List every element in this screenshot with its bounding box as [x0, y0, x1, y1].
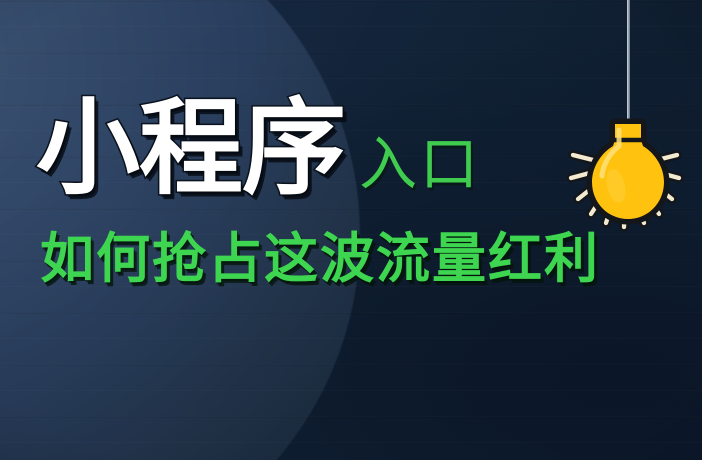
- hanging-lightbulb-icon: [556, 0, 702, 236]
- headline: 小程序 入口: [36, 96, 481, 200]
- title-main: 小程序: [36, 96, 345, 200]
- subtitle: 如何抢占这波流量红利: [40, 231, 600, 287]
- bulb-body: [592, 124, 664, 219]
- bulb-cord: [628, 0, 629, 122]
- title-accent: 入口: [359, 135, 481, 193]
- poster-canvas: 小程序 入口 如何抢占这波流量红利: [0, 0, 702, 460]
